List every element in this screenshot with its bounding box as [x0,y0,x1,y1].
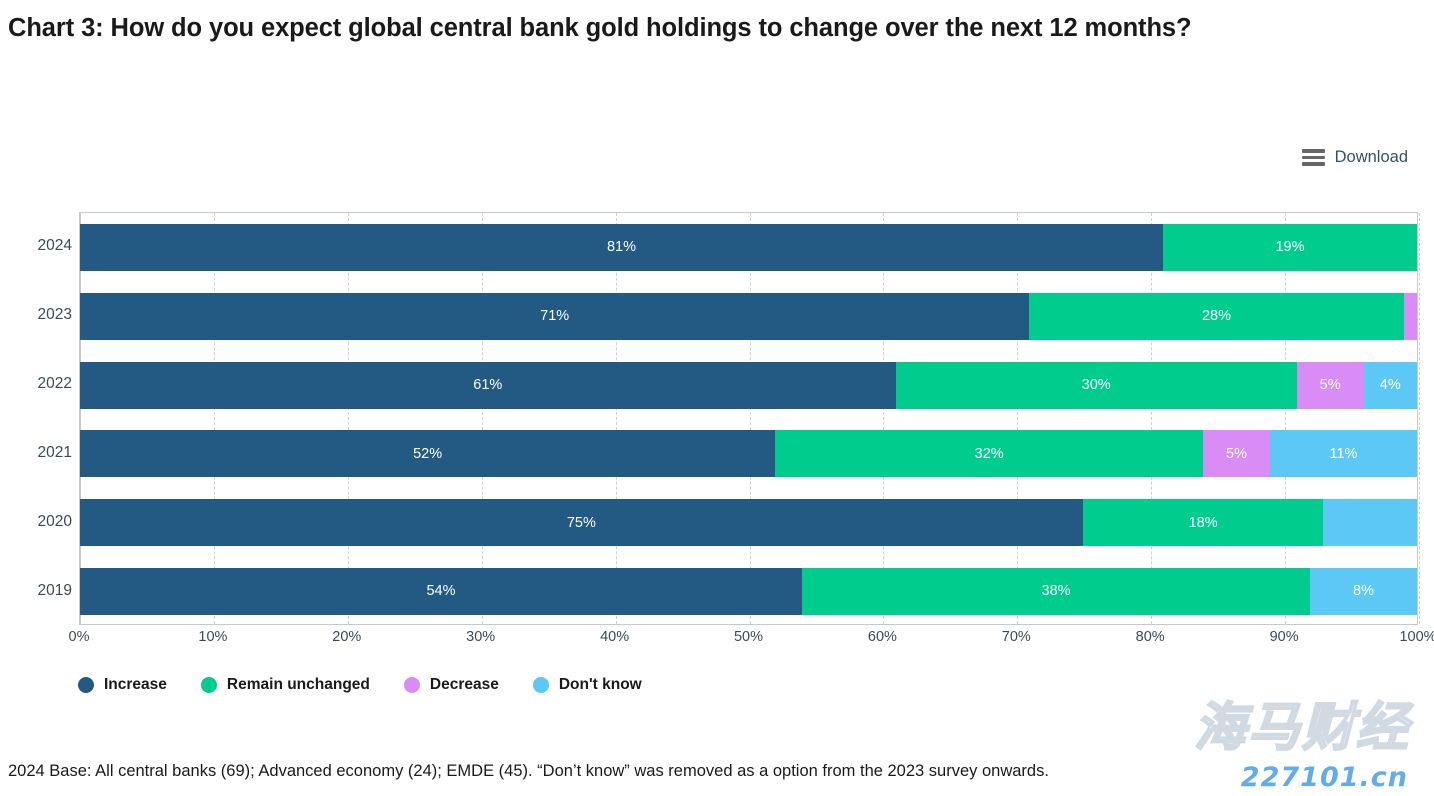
bar-segment-label: 52% [413,447,442,462]
x-axis-tick-30%: 30% [466,629,495,645]
legend-swatch-icon [533,677,549,693]
legend-swatch-icon [78,677,94,693]
footnote: 2024 Base: All central banks (69); Advan… [8,762,1428,781]
y-axis-tick-2024: 2024 [10,237,72,255]
bar-segment[interactable]: 61% [80,362,896,409]
x-axis-tick-20%: 20% [332,629,361,645]
legend-label: Don't know [559,676,642,694]
bar-row: 71%28% [80,293,1417,340]
bar-segment[interactable] [1404,293,1417,340]
bar-row: 75%18% [80,499,1417,546]
bar-segment[interactable]: 8% [1310,568,1417,615]
gridline [1419,213,1420,624]
bar-segment-label: 54% [426,584,455,599]
legend-swatch-icon [404,677,420,693]
bar-segment[interactable]: 30% [896,362,1297,409]
bar-segment[interactable]: 11% [1270,430,1417,477]
bar-segment[interactable] [1323,499,1417,546]
bar-segment-label: 5% [1226,447,1247,462]
bar-segment-label: 61% [473,378,502,393]
bar-segment-label: 71% [540,309,569,324]
bar-segment-label: 38% [1042,584,1071,599]
y-axis-tick-2019: 2019 [10,582,72,600]
bar-row: 81%19% [80,224,1417,271]
bar-segment-label: 32% [975,447,1004,462]
download-label: Download [1335,148,1408,167]
bar-segment[interactable]: 52% [80,430,775,477]
bar-segment-label: 4% [1380,378,1401,393]
bar-segment[interactable]: 32% [775,430,1203,477]
legend-item[interactable]: Decrease [404,676,499,694]
x-axis-tick-10%: 10% [198,629,227,645]
bar-segment[interactable]: 71% [80,293,1029,340]
legend-swatch-icon [201,677,217,693]
bar-segment[interactable]: 81% [80,224,1163,271]
bar-segment[interactable]: 18% [1083,499,1324,546]
chart-page: Chart 3: How do you expect global centra… [0,0,1434,796]
watermark-brand: 海马财经 [1194,702,1410,754]
bar-row: 54%38%8% [80,568,1417,615]
y-axis-tick-2020: 2020 [10,513,72,531]
y-axis-tick-2021: 2021 [10,444,72,462]
chart-legend: IncreaseRemain unchangedDecreaseDon't kn… [78,676,642,694]
bar-segment[interactable]: 75% [80,499,1083,546]
x-axis-tick-50%: 50% [734,629,763,645]
x-axis-labels: 0%10%20%30%40%50%60%70%80%90%100% [79,629,1418,653]
bar-segment[interactable]: 4% [1364,362,1417,409]
y-axis-labels: 202420232022202120202019 [0,212,72,625]
bar-segment-label: 81% [607,240,636,255]
bar-segment[interactable]: 5% [1297,362,1364,409]
bar-segment[interactable]: 38% [802,568,1310,615]
bar-segment-label: 19% [1275,240,1304,255]
x-axis-tick-100%: 100% [1399,629,1434,645]
bar-segment-label: 5% [1320,378,1341,393]
download-button[interactable]: Download [1302,148,1408,167]
bar-segment-label: 8% [1353,584,1374,599]
bar-row: 61%30%5%4% [80,362,1417,409]
bar-segment-label: 28% [1202,309,1231,324]
legend-label: Increase [104,676,167,694]
bar-segment[interactable]: 54% [80,568,802,615]
y-axis-tick-2022: 2022 [10,375,72,393]
legend-label: Decrease [430,676,499,694]
legend-item[interactable]: Increase [78,676,167,694]
x-axis-tick-40%: 40% [600,629,629,645]
legend-item[interactable]: Don't know [533,676,642,694]
x-axis-tick-70%: 70% [1002,629,1031,645]
x-axis-tick-80%: 80% [1136,629,1165,645]
bar-segment-label: 18% [1189,516,1218,531]
x-axis-tick-90%: 90% [1270,629,1299,645]
legend-label: Remain unchanged [227,676,370,694]
y-axis-tick-2023: 2023 [10,306,72,324]
bar-segment-label: 11% [1329,447,1357,462]
x-axis-tick-0%: 0% [69,629,90,645]
bar-row: 52%32%5%11% [80,430,1417,477]
legend-item[interactable]: Remain unchanged [201,676,370,694]
bar-segment[interactable]: 19% [1163,224,1417,271]
bar-segment[interactable]: 5% [1203,430,1270,477]
plot-area: 81%19%71%28%61%30%5%4%52%32%5%11%75%18%5… [79,212,1418,625]
bars-layer: 81%19%71%28%61%30%5%4%52%32%5%11%75%18%5… [80,213,1417,624]
bar-segment-label: 75% [567,516,596,531]
x-axis-tick-60%: 60% [868,629,897,645]
bar-segment-label: 30% [1082,378,1111,393]
hamburger-icon [1302,149,1325,166]
bar-segment[interactable]: 28% [1029,293,1403,340]
page-title: Chart 3: How do you expect global centra… [8,12,1428,45]
